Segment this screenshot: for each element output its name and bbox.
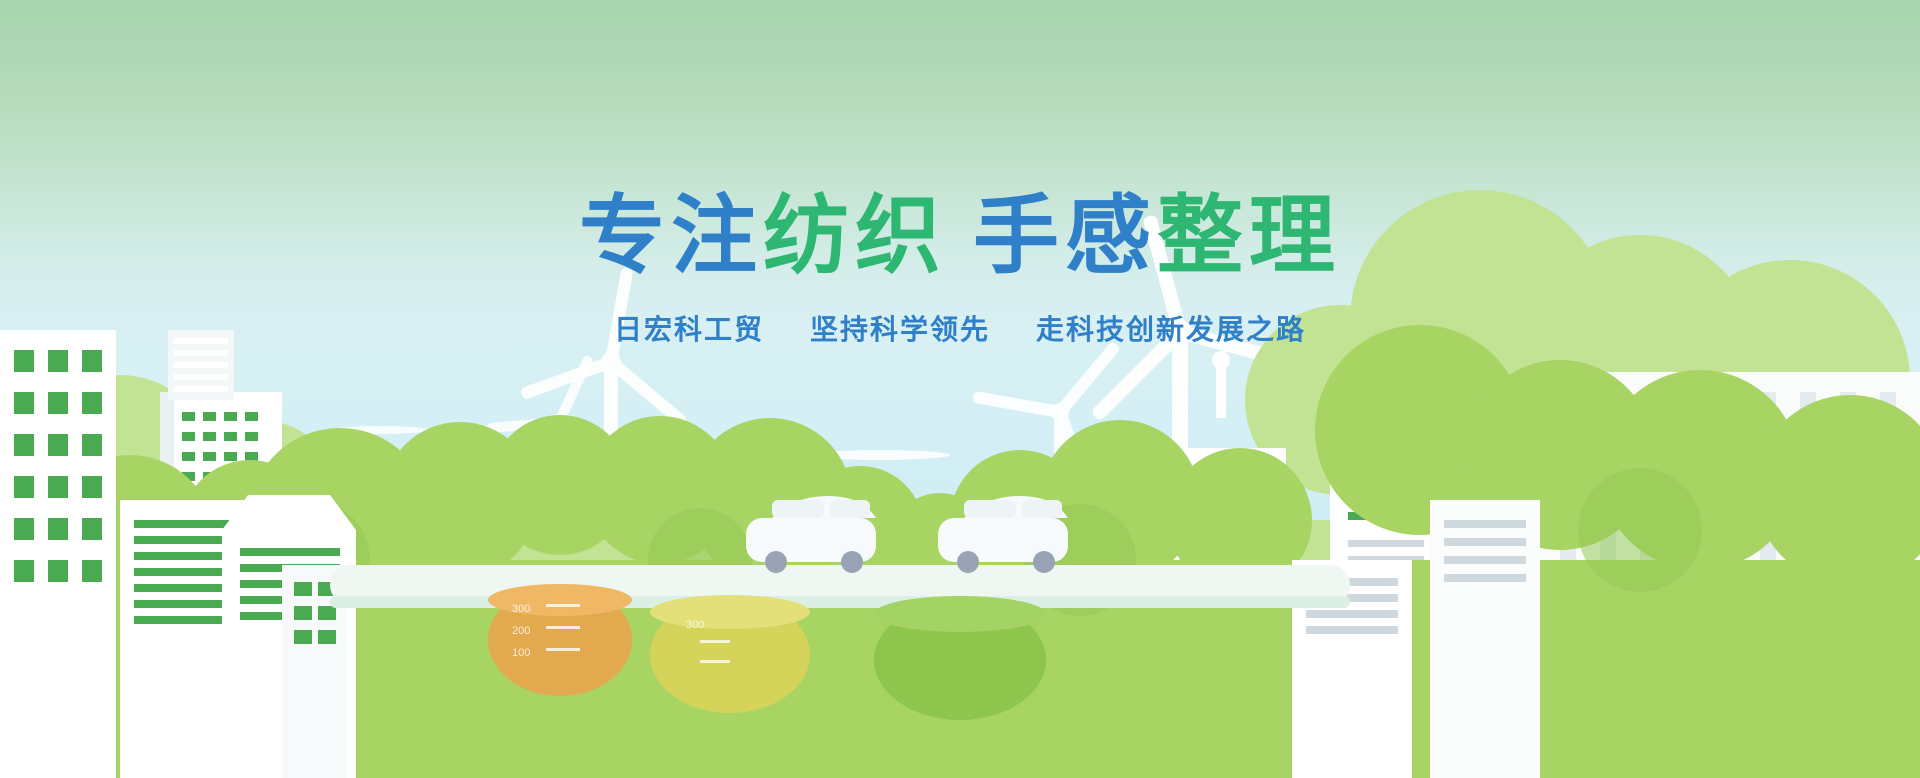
beaker-layer: 300 200 100 300 [0,0,1920,778]
lab-beaker: 300 200 100 [488,584,632,696]
beaker-tick-label: 100 [512,647,530,659]
beaker-tick-label: 300 [512,603,530,615]
beaker-tick-label: 300 [686,619,704,631]
lab-beaker [874,596,1046,720]
beaker-tick-label: 200 [512,625,530,637]
hero-banner: 300 200 100 300 [0,0,1920,778]
lab-beaker: 300 [650,595,810,713]
